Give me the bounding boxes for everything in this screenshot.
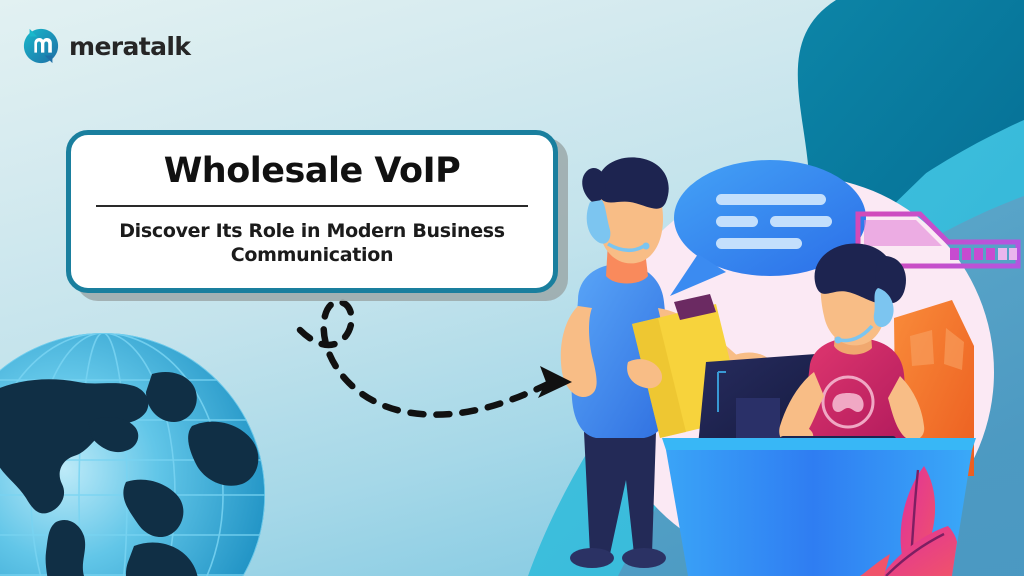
page-title: Wholesale VoIP — [164, 153, 461, 190]
meratalk-swirl-logo-icon — [22, 27, 60, 65]
call-center-teamwork-illustration — [548, 150, 1024, 576]
brand-wordmark: meratalk — [69, 34, 190, 59]
page-subtitle: Discover Its Role in Modern Business Com… — [93, 219, 531, 268]
desk — [662, 438, 976, 576]
poster-canvas: Wholesale VoIP Discover Its Role in Mode… — [0, 0, 1024, 576]
globe-world-map-icon — [0, 330, 268, 576]
title-card: Wholesale VoIP Discover Its Role in Mode… — [66, 130, 558, 293]
title-divider — [96, 205, 528, 207]
brand-logo[interactable]: meratalk — [22, 27, 190, 65]
dashed-curved-arrow-icon — [296, 288, 586, 418]
